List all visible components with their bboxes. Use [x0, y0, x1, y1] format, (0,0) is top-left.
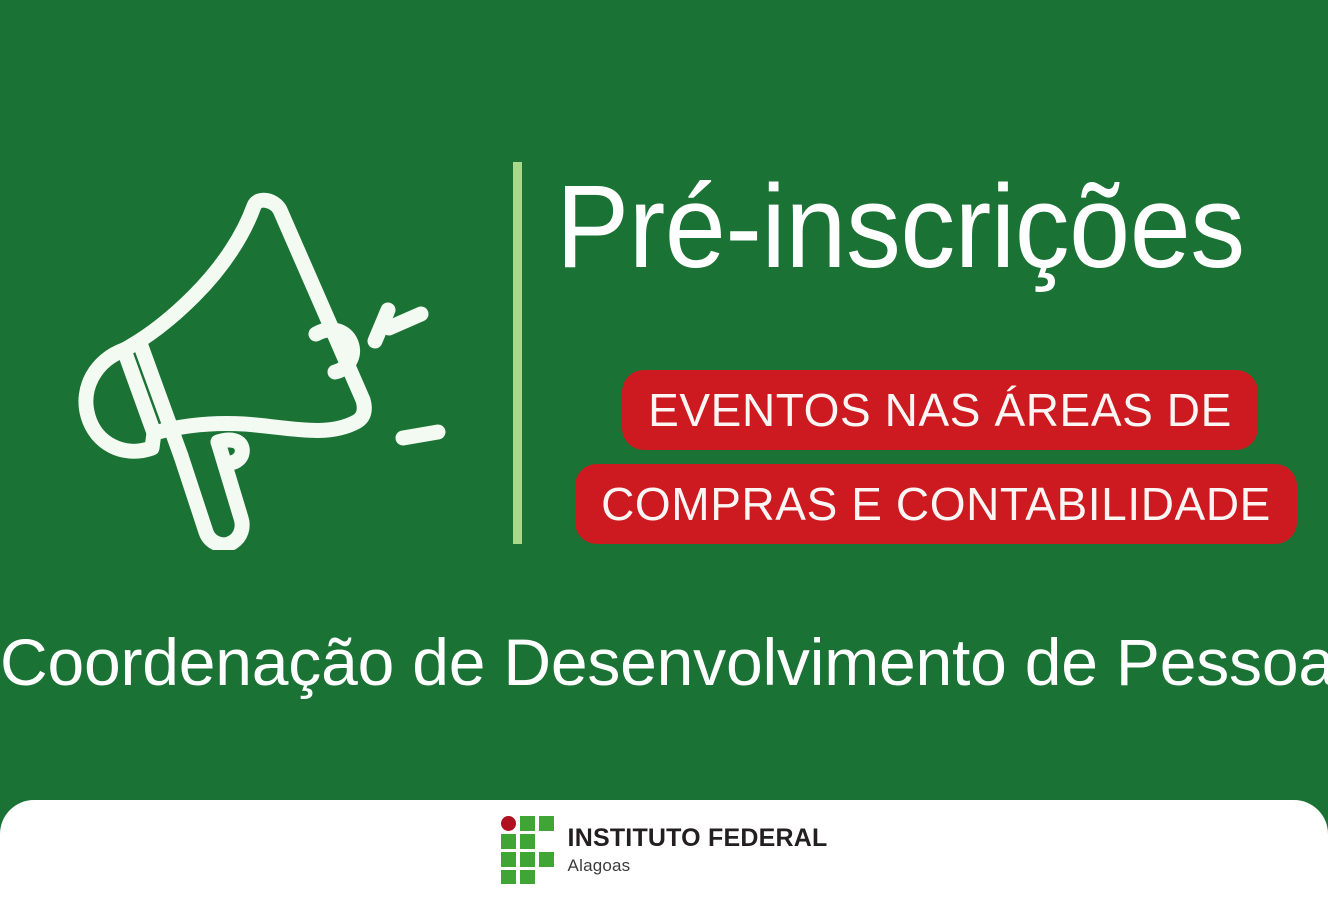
instituto-federal-logo-icon: [501, 816, 555, 884]
headline-block: Pré-inscrições: [556, 168, 1296, 286]
banner-line-1-text: EVENTOS NAS ÁREAS DE: [622, 370, 1258, 450]
logo-title: INSTITUTO FEDERAL: [568, 826, 828, 851]
department-subtitle: Coordenação de Desenvolvimento de Pessoa…: [0, 628, 1328, 697]
logo-wordmark: INSTITUTO FEDERAL Alagoas: [568, 826, 828, 874]
poster-canvas: Pré-inscrições EVENTOS NAS ÁREAS DE COMP…: [0, 0, 1328, 900]
accent-rule: [513, 162, 522, 544]
footer-panel: INSTITUTO FEDERAL Alagoas: [0, 800, 1328, 900]
event-banner: EVENTOS NAS ÁREAS DE COMPRAS E CONTABILI…: [556, 372, 1316, 554]
banner-line-2-text: COMPRAS E CONTABILIDADE: [575, 464, 1297, 544]
page-title: Pré-inscrições: [556, 168, 1244, 286]
logo-campus: Alagoas: [568, 857, 828, 874]
banner-line-2: COMPRAS E CONTABILIDADE: [556, 466, 1316, 554]
megaphone-icon: [58, 150, 458, 550]
institutional-logo: INSTITUTO FEDERAL Alagoas: [0, 816, 1328, 884]
banner-line-1: EVENTOS NAS ÁREAS DE: [556, 372, 1316, 460]
